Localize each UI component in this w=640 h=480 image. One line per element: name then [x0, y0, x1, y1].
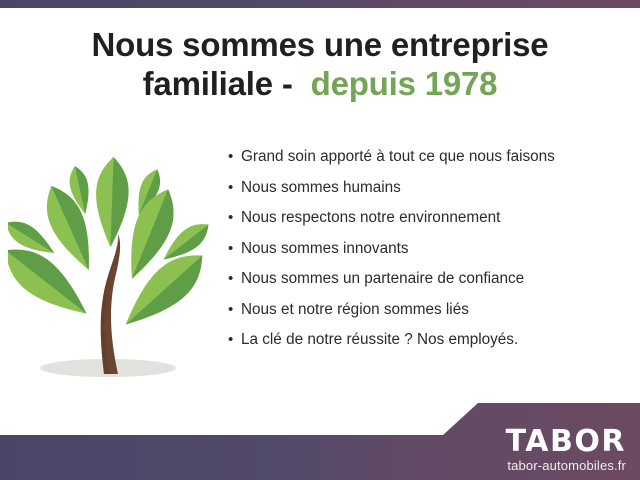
tree-leaf: [113, 242, 214, 338]
list-item: • La clé de notre réussite ? Nos employé…: [228, 331, 630, 349]
bullet-dot-icon: •: [228, 210, 241, 225]
list-item-label: La clé de notre réussite ? Nos employés.: [241, 331, 518, 349]
list-item-label: Nous et notre région sommes liés: [241, 301, 469, 319]
title-accent-year: depuis 1978: [311, 65, 498, 102]
brand-logo[interactable]: TABOR tabor-automobiles.fr: [506, 426, 626, 474]
tree-leaf: [94, 156, 130, 247]
title-line-2: familiale - depuis 1978: [0, 65, 640, 104]
list-item-label: Nous sommes humains: [241, 179, 401, 197]
list-item: • Nous et notre région sommes liés: [228, 301, 630, 319]
bullet-dot-icon: •: [228, 332, 241, 347]
list-item: • Nous sommes un partenaire de confiance: [228, 270, 630, 288]
tree-illustration: [8, 150, 222, 392]
list-item-label: Nous respectons notre environnement: [241, 209, 500, 227]
list-item-label: Nous sommes innovants: [241, 240, 409, 258]
brand-logo-tagline: tabor-automobiles.fr: [506, 458, 626, 474]
bullet-dot-icon: •: [228, 241, 241, 256]
list-item: • Nous sommes humains: [228, 179, 630, 197]
page-title: Nous sommes une entreprise familiale - d…: [0, 26, 640, 104]
list-item: • Grand soin apporté à tout ce que nous …: [228, 148, 630, 166]
title-line-1: Nous sommes une entreprise: [0, 26, 640, 65]
bullet-dot-icon: •: [228, 180, 241, 195]
brand-logo-wordmark: TABOR: [506, 426, 626, 458]
title-line-2-prefix: familiale -: [143, 65, 311, 102]
value-bullet-list: • Grand soin apporté à tout ce que nous …: [228, 148, 630, 362]
footer-bar: TABOR tabor-automobiles.fr: [0, 400, 640, 480]
list-item-label: Nous sommes un partenaire de confiance: [241, 270, 524, 288]
list-item: • Nous respectons notre environnement: [228, 209, 630, 227]
bullet-dot-icon: •: [228, 149, 241, 164]
top-accent-strip: [0, 0, 640, 8]
bullet-dot-icon: •: [228, 302, 241, 317]
bullet-dot-icon: •: [228, 271, 241, 286]
list-item-label: Grand soin apporté à tout ce que nous fa…: [241, 148, 555, 166]
slide-canvas: Nous sommes une entreprise familiale - d…: [0, 0, 640, 480]
list-item: • Nous sommes innovants: [228, 240, 630, 258]
